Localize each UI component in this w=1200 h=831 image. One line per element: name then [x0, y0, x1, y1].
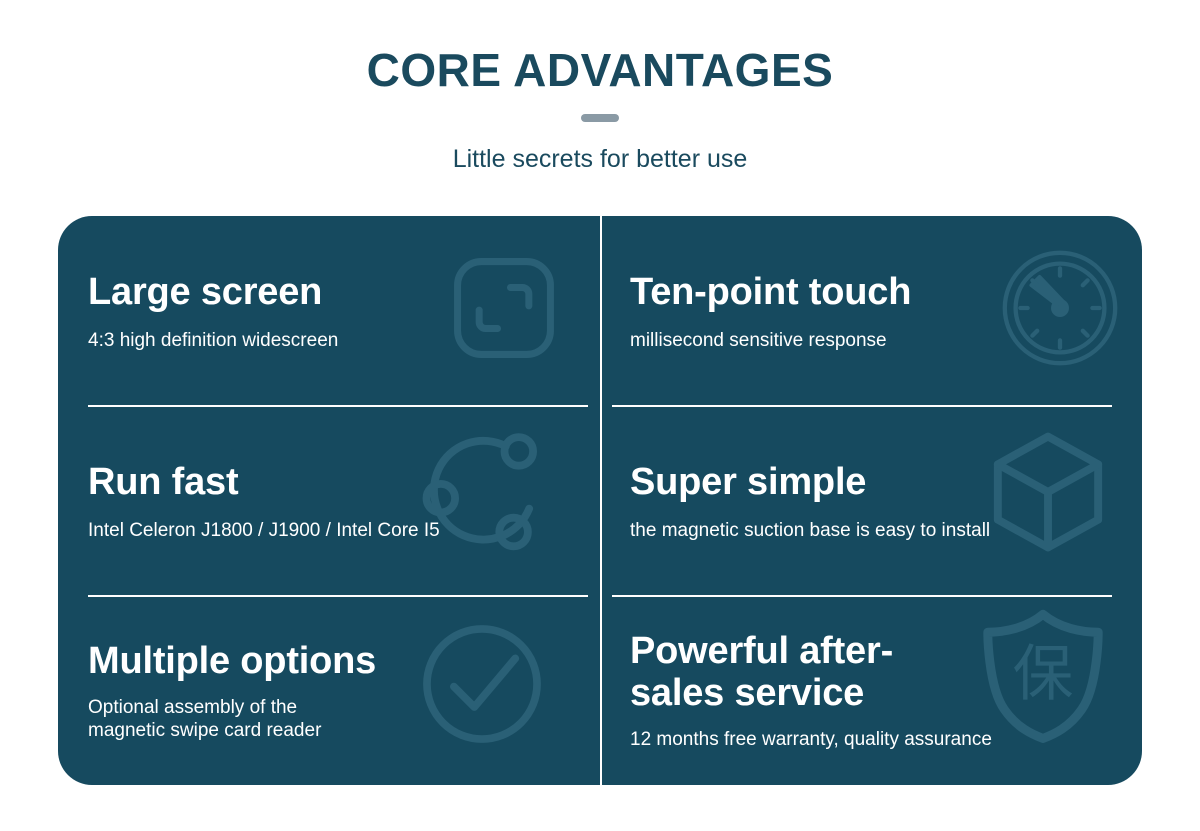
core-advantages-page: CORE ADVANTAGES Little secrets for bette… — [0, 0, 1200, 831]
title-divider — [581, 114, 619, 122]
feature-title: Super simple — [630, 461, 1120, 503]
feature-text-block: Super simple the magnetic suction base i… — [630, 406, 1120, 596]
feature-description: Intel Celeron J1800 / J1900 / Intel Core… — [88, 519, 578, 542]
feature-card-multiple-options[interactable]: Multiple options Optional assembly of th… — [58, 596, 600, 785]
page-subtitle: Little secrets for better use — [0, 122, 1200, 174]
feature-title: Multiple options — [88, 640, 578, 682]
page-header: CORE ADVANTAGES Little secrets for bette… — [0, 0, 1200, 174]
feature-description: 12 months free warranty, quality assuran… — [630, 728, 1120, 751]
feature-card-ten-point-touch[interactable]: Ten-point touch millisecond sensitive re… — [600, 216, 1142, 406]
feature-card-after-sales-service[interactable]: 保 Powerful after- sales service 12 month… — [600, 596, 1142, 785]
feature-title: Ten-point touch — [630, 271, 1120, 313]
feature-description: 4:3 high definition widescreen — [88, 329, 578, 352]
horizontal-divider-left-2 — [88, 595, 588, 597]
feature-description: the magnetic suction base is easy to ins… — [630, 519, 1120, 542]
feature-card-run-fast[interactable]: Run fast Intel Celeron J1800 / J1900 / I… — [58, 406, 600, 596]
feature-text-block: Powerful after- sales service 12 months … — [630, 596, 1120, 785]
feature-title: Large screen — [88, 271, 578, 313]
horizontal-divider-left-1 — [88, 405, 588, 407]
feature-card-large-screen[interactable]: Large screen 4:3 high definition widescr… — [58, 216, 600, 406]
feature-title: Run fast — [88, 461, 578, 503]
feature-text-block: Multiple options Optional assembly of th… — [88, 596, 578, 785]
features-panel: Large screen 4:3 high definition widescr… — [58, 216, 1142, 785]
horizontal-divider-right-1 — [612, 405, 1112, 407]
feature-description: Optional assembly of the magnetic swipe … — [88, 696, 578, 742]
feature-card-super-simple[interactable]: Super simple the magnetic suction base i… — [600, 406, 1142, 596]
page-title: CORE ADVANTAGES — [0, 0, 1200, 96]
feature-title: Powerful after- sales service — [630, 630, 1120, 714]
horizontal-divider-right-2 — [612, 595, 1112, 597]
feature-text-block: Ten-point touch millisecond sensitive re… — [630, 216, 1120, 406]
vertical-divider — [600, 216, 602, 785]
feature-description: millisecond sensitive response — [630, 329, 1120, 352]
feature-text-block: Run fast Intel Celeron J1800 / J1900 / I… — [88, 406, 578, 596]
feature-text-block: Large screen 4:3 high definition widescr… — [88, 216, 578, 406]
